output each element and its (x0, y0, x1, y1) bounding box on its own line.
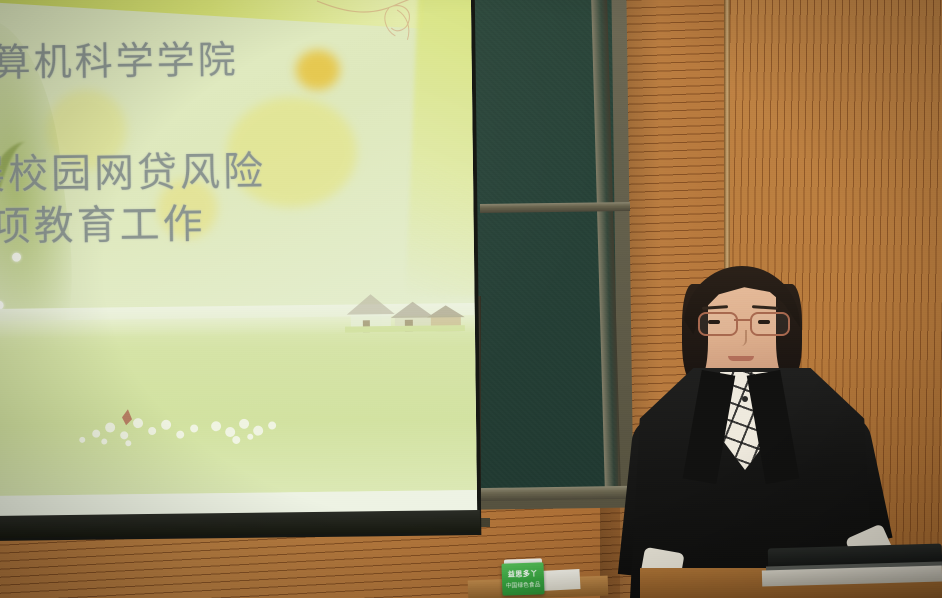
slide-daisies-icon (70, 399, 301, 450)
lecture-hall-photo: 计算机科学学院 展校园网贷风险 专项教育工作 益思多丫 中国绿色食品 (0, 0, 942, 598)
presenter-eye-left (708, 320, 720, 324)
green-package: 益思多丫 中国绿色食品 (501, 562, 544, 595)
blackboard-slide-handle[interactable] (598, 126, 609, 172)
glasses-lens-left (698, 312, 738, 336)
green-package-text-line-1: 益思多丫 (502, 568, 544, 579)
blackboard-bottom-rail (470, 486, 635, 502)
slide-text-block: 计算机科学学院 展校园网贷风险 专项教育工作 (0, 37, 474, 253)
presenter-nose (736, 330, 747, 346)
desk-paper (540, 569, 581, 591)
presenter-mouth (728, 356, 754, 361)
green-package-text-line-2: 中国绿色食品 (502, 580, 544, 589)
presentation-slide: 计算机科学学院 展校园网贷风险 专项教育工作 (0, 0, 477, 521)
glasses-bridge (734, 319, 752, 321)
presenter-blouse-button (742, 396, 748, 402)
projection-screen: 计算机科学学院 展校园网贷风险 专项教育工作 (0, 0, 477, 521)
slide-houses-icon (344, 285, 465, 332)
presenter-eye-right (758, 320, 770, 324)
slide-title-line: 计算机科学学院 (0, 37, 472, 87)
slide-tree-flower-a (12, 253, 21, 262)
slide-subtitle-line-2: 专项教育工作 (0, 195, 474, 253)
slide-subtitle-line-1: 展校园网贷风险 (0, 143, 473, 201)
glasses-lens-right (750, 312, 790, 336)
